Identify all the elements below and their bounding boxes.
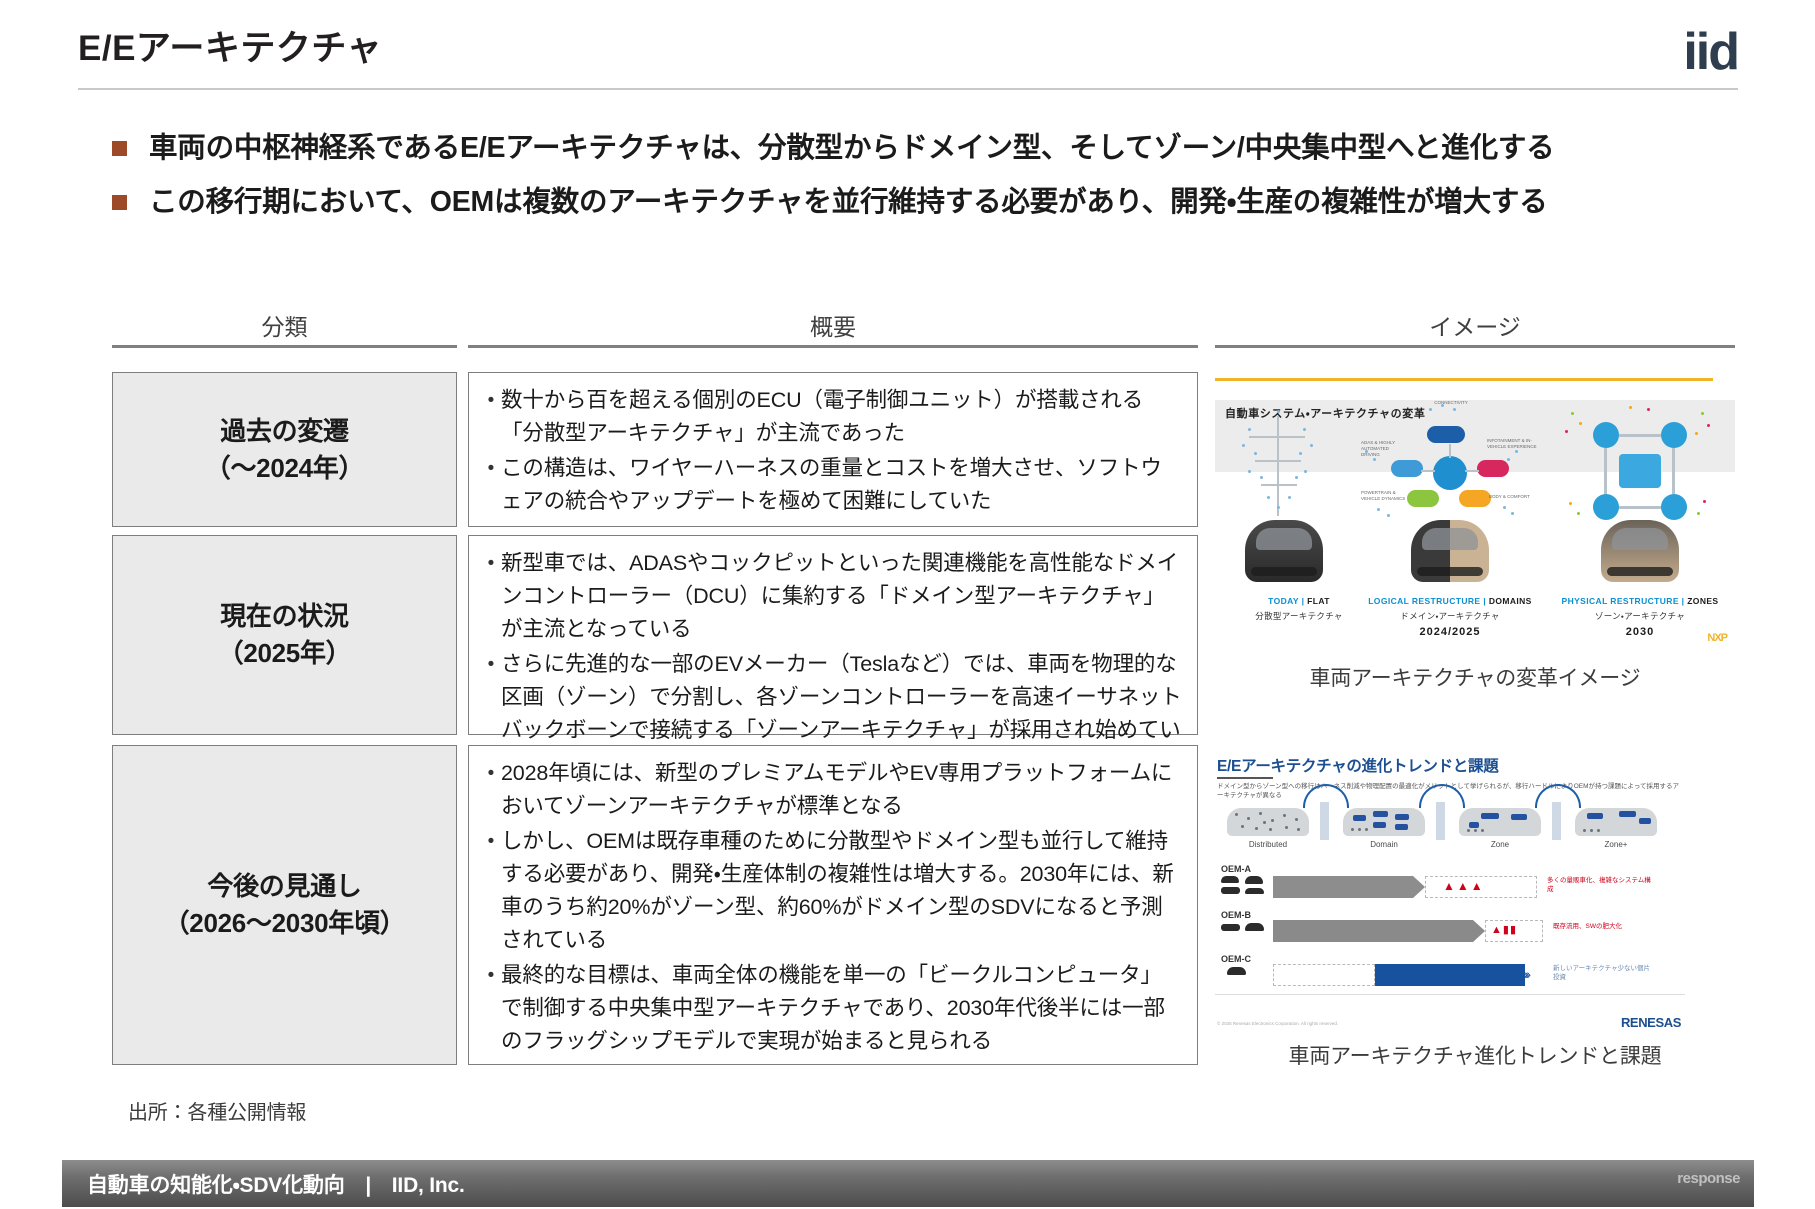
category-label-line1: 今後の見通し <box>207 871 361 901</box>
oem-note-b: 既存流用、SWの肥大化 <box>1553 922 1653 931</box>
dot-bullet-icon: • <box>481 384 501 417</box>
figure-title: E/Eアーキテクチャの進化トレンドと課題 <box>1217 754 1498 776</box>
category-label: 過去の変遷 （～2024年） <box>205 413 364 487</box>
table-row-category-cell: 現在の状況 （2025年） <box>112 535 457 735</box>
progress-bar-a-tip <box>1413 876 1425 898</box>
key-message-text: この移行期において、OEMは複数のアーキテクチャを並行維持する必要があり、開発・… <box>149 182 1548 222</box>
car-front-zone <box>1601 520 1679 582</box>
summary-bullet: • 新型車では、ADASやコックピットといった関連機能を高性能なドメインコントロ… <box>481 547 1183 646</box>
key-message-text: 車両の中枢神経系であるE/Eアーキテクチャは、分散型からドメイン型、そしてゾーン… <box>149 128 1554 168</box>
figure-title: 自動車システム・アーキテクチャの変革 <box>1225 405 1425 421</box>
figure-accent-line <box>1215 378 1713 381</box>
stage-label-jp-domains: ドメイン・アーキテクチャ <box>1365 610 1535 622</box>
car-icons-b <box>1221 922 1265 934</box>
column-header-image: イメージ <box>1215 308 1735 342</box>
category-label: 今後の見通し （2026～2030年頃） <box>164 868 406 942</box>
car-icons-c <box>1227 966 1249 976</box>
dot-bullet-icon: • <box>481 648 501 681</box>
category-label-line2: （～2024年） <box>205 453 364 483</box>
oem-note-a: 多くの量販車化、複雑なシステム構成 <box>1547 876 1651 894</box>
summary-bullet-text: 新型車では、ADASやコックピットといった関連機能を高性能なドメインコントローラ… <box>501 547 1183 646</box>
summary-bullet-text: この構造は、ワイヤーハーネスの重量とコストを増大させ、ソフトウェアの統合やアップ… <box>501 452 1183 518</box>
source-note: 出所：各種公開情報 <box>128 1096 306 1125</box>
key-message-item: 車両の中枢神経系であるE/Eアーキテクチャは、分散型からドメイン型、そしてゾーン… <box>112 128 1752 168</box>
table-row-summary-cell: • 新型車では、ADASやコックピットといった関連機能を高性能なドメインコントロ… <box>468 535 1198 735</box>
figure-footer-divider <box>1215 994 1685 995</box>
figure-architecture-transformation: 自動車システム・アーキテクチャの変革 TODAY | FLAT 分散型アーキテク… <box>1215 378 1735 650</box>
progress-bar-b-tip <box>1473 920 1485 942</box>
square-bullet-icon <box>112 141 127 156</box>
warning-icons-b: ▲▮▮ <box>1491 923 1517 936</box>
car-icons-a <box>1221 876 1265 898</box>
summary-bullet: • 2028年頃には、新型のプレミアムモデルやEV専用プラットフォームにおいてゾ… <box>481 757 1183 823</box>
summary-bullet: • 最終的な目標は、車両全体の機能を単一の「ビークルコンピュータ」で制御する中央… <box>481 959 1183 1058</box>
dot-bullet-icon: • <box>481 452 501 485</box>
stage-label-zone: Zone <box>1460 840 1540 849</box>
table-row-category-cell: 過去の変遷 （～2024年） <box>112 372 457 527</box>
oem-label-b: OEM-B <box>1221 910 1251 920</box>
oem-label-a: OEM-A <box>1221 864 1251 874</box>
column-header-category: 分類 <box>112 308 457 342</box>
domain-label-infotainment: INFOTAINMENT & IN-VEHICLE EXPERIENCE <box>1487 438 1537 450</box>
car-zone-plus <box>1575 808 1657 836</box>
domain-label-adas: ADAS & HIGHLY AUTOMATED DRIVING <box>1361 440 1407 458</box>
category-label-line2: （2025年） <box>218 638 352 668</box>
header-divider <box>78 88 1738 90</box>
warning-icons-a: ▲▲▲ <box>1443 879 1485 893</box>
iid-logo: iid <box>1683 24 1738 80</box>
stage-label-zone-plus: Zone+ <box>1576 840 1656 849</box>
progress-bar-c-tip: ››› <box>1523 964 1528 984</box>
renesas-logo: RENESAS <box>1621 1015 1681 1030</box>
car-distributed <box>1227 808 1309 836</box>
domain-label-connectivity: CONNECTIVITY <box>1423 400 1479 405</box>
summary-bullet: • しかし、OEMは既存車種のために分散型やドメイン型も並行して維持する必要があ… <box>481 825 1183 957</box>
stage-year-domains: 2024/2025 <box>1365 626 1535 638</box>
dot-bullet-icon: • <box>481 547 501 580</box>
column-rule-image <box>1215 345 1735 348</box>
car-front-flat <box>1245 520 1323 582</box>
column-header-summary: 概要 <box>468 308 1198 342</box>
table-row-category-cell: 今後の見通し （2026～2030年頃） <box>112 745 457 1065</box>
summary-bullet-text: 数十から百を超える個別のECU（電子制御ユニット）が搭載される「分散型アーキテク… <box>501 384 1183 450</box>
stage-label-domain: Domain <box>1344 840 1424 849</box>
stage-label-en-zones: PHYSICAL RESTRUCTURE | ZONES <box>1555 596 1725 606</box>
response-logo: response <box>1677 1170 1740 1187</box>
figure-copyright: © 2025 Renesas Electronics Corporation. … <box>1217 1021 1338 1026</box>
key-message-list: 車両の中枢神経系であるE/Eアーキテクチャは、分散型からドメイン型、そしてゾーン… <box>112 128 1752 236</box>
car-domain <box>1343 808 1425 836</box>
footer-text: 自動車の知能化・SDV化動向 | IID, Inc. <box>87 1169 465 1199</box>
slide-header: E/Eアーキテクチャ iid <box>78 18 1738 86</box>
domain-label-body: BODY & COMFORT <box>1489 494 1535 500</box>
oem-note-c: 新しいアーキテクチャ少ない個片投資 <box>1553 964 1653 982</box>
summary-bullet: • この構造は、ワイヤーハーネスの重量とコストを増大させ、ソフトウェアの統合やア… <box>481 452 1183 518</box>
summary-bullet-text: 2028年頃には、新型のプレミアムモデルやEV専用プラットフォームにおいてゾーン… <box>501 757 1183 823</box>
figure-title-underline <box>1217 777 1273 779</box>
stage-label-en-flat: TODAY | FLAT <box>1215 596 1384 606</box>
oem-label-c: OEM-C <box>1221 954 1251 964</box>
nxp-logo: NXP <box>1707 632 1727 644</box>
dot-bullet-icon: • <box>481 757 501 790</box>
summary-bullet: • 数十から百を超える個別のECU（電子制御ユニット）が搭載される「分散型アーキ… <box>481 384 1183 450</box>
progress-bar-b <box>1273 920 1473 942</box>
key-message-item: この移行期において、OEMは複数のアーキテクチャを並行維持する必要があり、開発・… <box>112 182 1752 222</box>
page-title: E/Eアーキテクチャ <box>78 18 1738 80</box>
stage-year-zones: 2030 <box>1555 626 1725 638</box>
figure-caption-2: 車両アーキテクチャ進化トレンドと課題 <box>1215 1040 1735 1070</box>
square-bullet-icon <box>112 195 127 210</box>
category-label-line2: （2026～2030年頃） <box>164 908 406 938</box>
stage-label-en-domains: LOGICAL RESTRUCTURE | DOMAINS <box>1365 596 1535 606</box>
dot-bullet-icon: • <box>481 959 501 992</box>
category-label: 現在の状況 （2025年） <box>218 598 352 672</box>
stage-label-jp-flat: 分散型アーキテクチャ <box>1215 610 1384 622</box>
category-label-line1: 過去の変遷 <box>220 416 349 446</box>
progress-bar-a <box>1273 876 1413 898</box>
column-rule-category <box>112 345 457 348</box>
figure-evolution-trend: E/Eアーキテクチャの進化トレンドと課題 ドメイン型からゾーン型への移行はハーネ… <box>1215 752 1685 1034</box>
progress-bar-c-pending <box>1273 964 1375 986</box>
category-label-line1: 現在の状況 <box>220 601 349 631</box>
progress-bar-c <box>1375 964 1525 986</box>
car-front-domain <box>1411 520 1489 582</box>
summary-bullet-text: しかし、OEMは既存車種のために分散型やドメイン型も並行して維持する必要があり、… <box>501 825 1183 957</box>
slide-root: E/Eアーキテクチャ iid 車両の中枢神経系であるE/Eアーキテクチャは、分散… <box>0 0 1815 1209</box>
column-rule-summary <box>468 345 1198 348</box>
car-zone <box>1459 808 1541 836</box>
figure-caption-1: 車両アーキテクチャの変革イメージ <box>1215 662 1735 692</box>
table-row-summary-cell: • 数十から百を超える個別のECU（電子制御ユニット）が搭載される「分散型アーキ… <box>468 372 1198 527</box>
stage-label-distributed: Distributed <box>1228 840 1308 849</box>
stage-label-jp-zones: ゾーン・アーキテクチャ <box>1555 610 1725 622</box>
table-row-summary-cell: • 2028年頃には、新型のプレミアムモデルやEV専用プラットフォームにおいてゾ… <box>468 745 1198 1065</box>
summary-bullet-text: 最終的な目標は、車両全体の機能を単一の「ビークルコンピュータ」で制御する中央集中… <box>501 959 1183 1058</box>
slide-footer: 自動車の知能化・SDV化動向 | IID, Inc. response <box>62 1160 1754 1207</box>
dot-bullet-icon: • <box>481 825 501 858</box>
domain-label-powertrain: POWERTRAIN & VEHICLE DYNAMICS <box>1361 490 1409 502</box>
